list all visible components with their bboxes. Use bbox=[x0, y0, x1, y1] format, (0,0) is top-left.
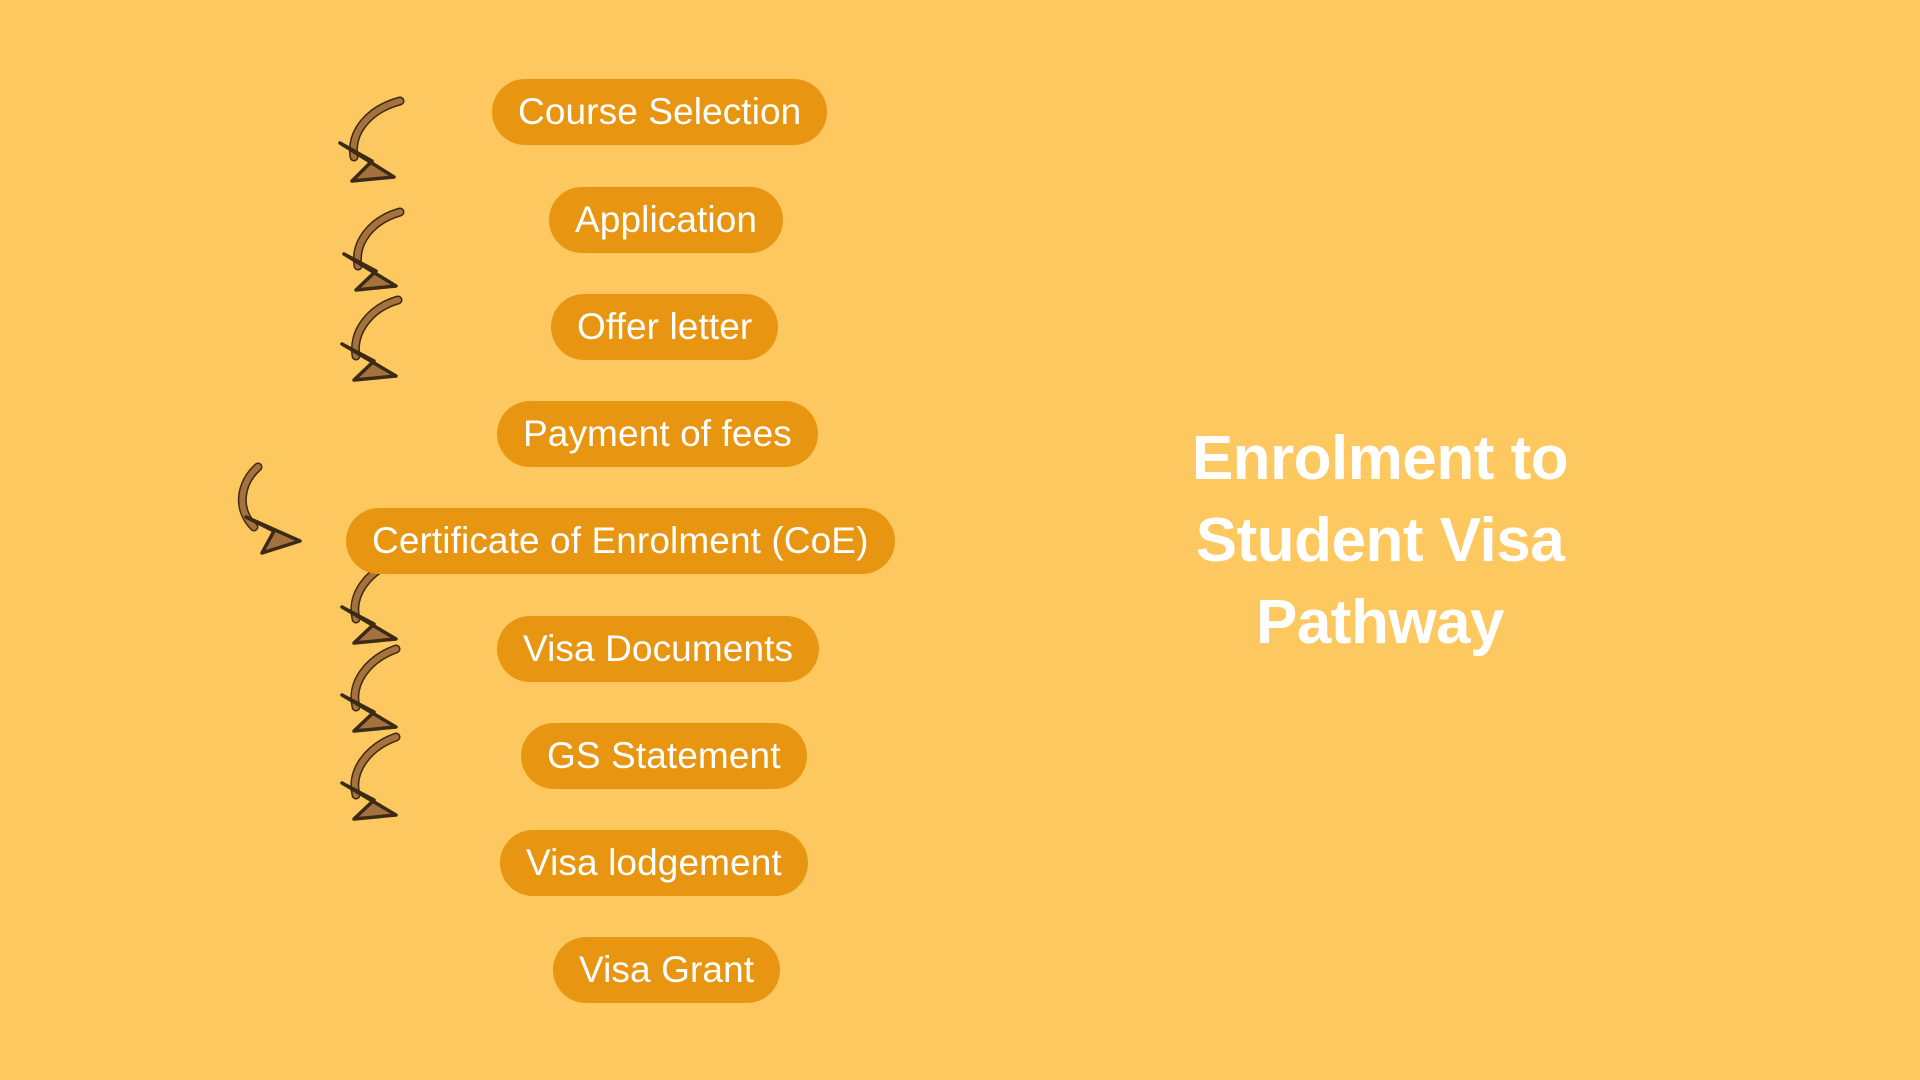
pathway-step-6[interactable]: Visa Documents bbox=[497, 613, 819, 685]
pathway-step-3[interactable]: Offer letter bbox=[551, 291, 778, 363]
curved-arrow-icon bbox=[334, 296, 412, 388]
step-label: Visa Grant bbox=[579, 951, 754, 988]
page-title-line-1: Enrolment to bbox=[1100, 418, 1660, 500]
step-pill-visa-grant[interactable]: Visa Grant bbox=[553, 937, 780, 1003]
curved-arrow-icon bbox=[334, 733, 412, 825]
step-label: Visa lodgement bbox=[526, 844, 782, 881]
step-label: Certificate of Enrolment (CoE) bbox=[372, 522, 869, 559]
pathway-step-2[interactable]: Application bbox=[549, 184, 783, 256]
step-label: GS Statement bbox=[547, 737, 781, 774]
step-pill-visa-documents[interactable]: Visa Documents bbox=[497, 616, 819, 682]
step-pill-offer-letter[interactable]: Offer letter bbox=[551, 294, 778, 360]
pathway-step-1[interactable]: Course Selection bbox=[492, 76, 827, 148]
pathway-step-9[interactable]: Visa Grant bbox=[553, 934, 780, 1006]
step-label: Application bbox=[575, 201, 757, 238]
curved-arrow-icon bbox=[334, 645, 412, 737]
step-pill-certificate-of-enrolment[interactable]: Certificate of Enrolment (CoE) bbox=[346, 508, 895, 574]
step-label: Visa Documents bbox=[523, 630, 793, 667]
page-title-line-3: Pathway bbox=[1100, 582, 1660, 664]
curved-arrow-icon bbox=[336, 208, 414, 300]
step-pill-visa-lodgement[interactable]: Visa lodgement bbox=[500, 830, 808, 896]
pathway-step-7[interactable]: GS Statement bbox=[521, 720, 807, 792]
pathway-flow-column: Course Selection Application Offer lette… bbox=[0, 0, 1080, 1080]
step-pill-payment-of-fees[interactable]: Payment of fees bbox=[497, 401, 818, 467]
step-pill-course-selection[interactable]: Course Selection bbox=[492, 79, 827, 145]
curved-arrow-icon bbox=[332, 95, 410, 187]
step-label: Payment of fees bbox=[523, 415, 792, 452]
infographic-canvas: Course Selection Application Offer lette… bbox=[0, 0, 1920, 1080]
step-label: Course Selection bbox=[518, 93, 801, 130]
step-pill-application[interactable]: Application bbox=[549, 187, 783, 253]
pathway-step-4[interactable]: Payment of fees bbox=[497, 398, 818, 470]
pathway-step-5[interactable]: Certificate of Enrolment (CoE) bbox=[346, 505, 895, 577]
curved-arrow-icon bbox=[228, 465, 306, 557]
pathway-step-8[interactable]: Visa lodgement bbox=[500, 827, 808, 899]
page-title-line-2: Student Visa bbox=[1100, 500, 1660, 582]
page-title: Enrolment to Student Visa Pathway bbox=[1100, 418, 1660, 663]
step-pill-gs-statement[interactable]: GS Statement bbox=[521, 723, 807, 789]
step-label: Offer letter bbox=[577, 308, 752, 345]
